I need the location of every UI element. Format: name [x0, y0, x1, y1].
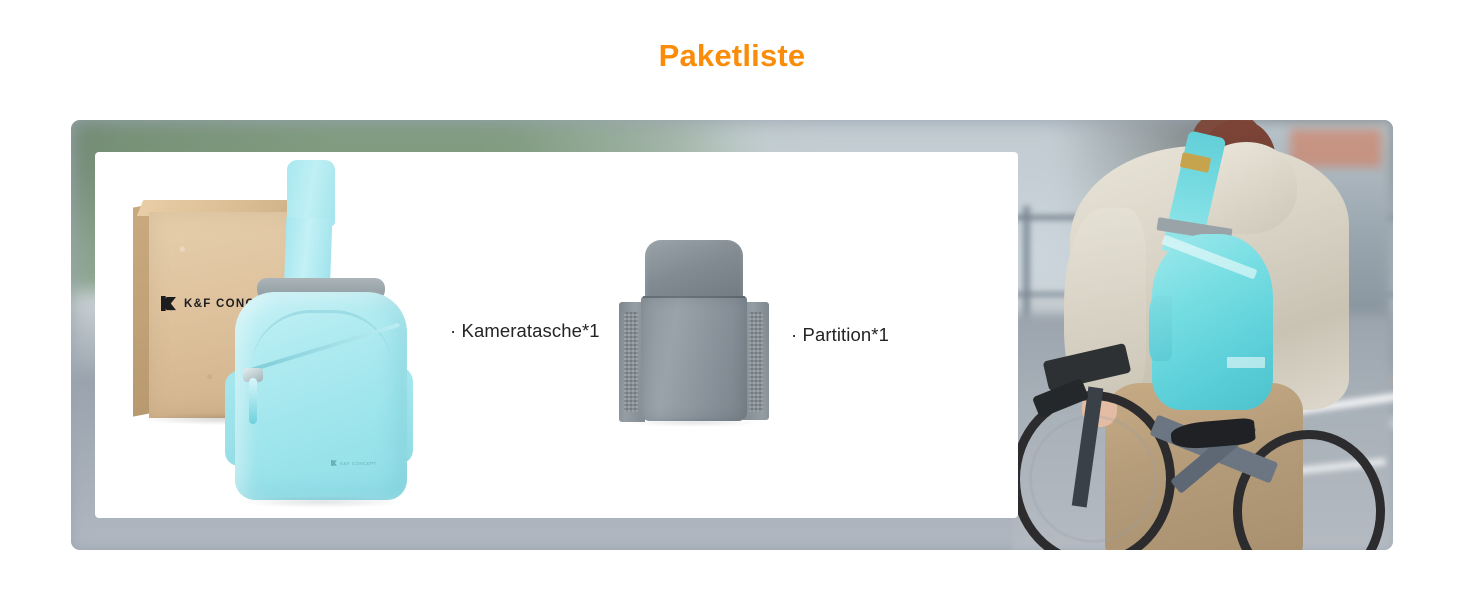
partition-velcro-right — [749, 312, 763, 412]
camera-sling-bag: K&F CONCEPT — [225, 160, 415, 515]
partition-divider — [619, 240, 769, 430]
package-showcase-frame: K&F CONCEPT — [71, 120, 1393, 550]
bag-brand-logo: K&F CONCEPT — [331, 460, 377, 466]
bag-kf-chevron-icon — [331, 460, 337, 466]
lifestyle-photo — [1011, 120, 1393, 550]
package-contents-card: K&F CONCEPT — [95, 152, 1018, 518]
partition-velcro-left — [624, 312, 638, 412]
item-label-camera-bag: · Kameratasche*1 — [450, 320, 600, 342]
item-label-partition: · Partition*1 — [791, 324, 889, 346]
worn-bag-logo — [1227, 357, 1265, 368]
page-title: Paketliste — [0, 38, 1464, 74]
bag-strap-top — [287, 160, 335, 226]
gift-box-side — [133, 204, 150, 416]
bag-brand-text: K&F CONCEPT — [340, 461, 377, 466]
partition-main-panel — [641, 296, 747, 421]
package-item-partition: · Partition*1 — [615, 152, 1015, 518]
partition-stitch-line — [643, 296, 745, 298]
worn-bag-side-pocket — [1149, 296, 1172, 362]
bag-shadow — [241, 496, 403, 508]
paketliste-page: Paketliste — [0, 0, 1464, 600]
package-items-row: K&F CONCEPT — [95, 152, 1018, 518]
partition-shadow — [629, 418, 759, 427]
package-item-camera-bag: K&F CONCEPT — [95, 152, 615, 518]
bag-zipper-pull-tab — [249, 378, 257, 424]
kf-chevron-logo-icon — [161, 296, 176, 311]
